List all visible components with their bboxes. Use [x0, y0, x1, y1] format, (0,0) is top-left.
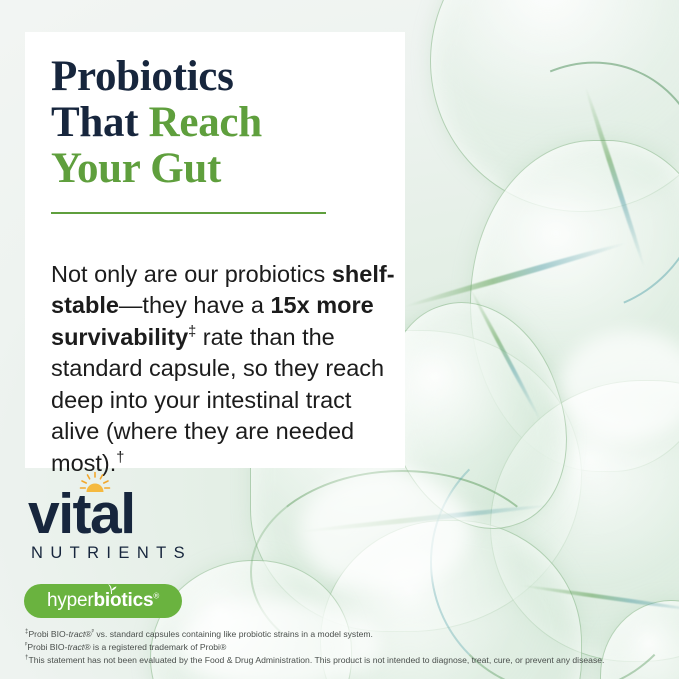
content-card: Probiotics That Reach Your Gut Not only …	[25, 32, 405, 468]
nutrients-subtitle: NUTRIENTS	[28, 544, 228, 563]
disclaimer-2-italic: tract	[67, 642, 84, 652]
headline: Probiotics That Reach Your Gut	[51, 54, 381, 192]
vital-nutrients-logo: vital NUTRIENTS	[28, 486, 228, 563]
headline-line2-green: Reach	[149, 99, 262, 146]
hyperbiotics-hyper: hyper	[47, 590, 94, 611]
disclaimer-line-2: ᵖProbi BIO-tract® is a registered tradem…	[25, 641, 675, 654]
hyperbiotics-biotics: biotics	[93, 590, 153, 611]
disclaimer-1-italic: tract	[69, 629, 86, 639]
disclaimer-line-3: †This statement has not been evaluated b…	[25, 654, 675, 667]
hyperbiotics-text: hyperbiotics®	[47, 590, 159, 612]
headline-line2-dark: That	[51, 99, 149, 146]
disclaimer-2b: ® is a registered trademark of Probi®	[84, 642, 226, 652]
headline-line1: Probiotics	[51, 53, 234, 100]
body-seg3: —they have a	[119, 292, 271, 318]
disclaimer-2a: Probi BIO-	[27, 642, 67, 652]
highlight-glare	[300, 470, 470, 590]
promotional-image: Probiotics That Reach Your Gut Not only …	[0, 0, 679, 679]
disclaimer-1c: vs. standard capsules containing like pr…	[94, 629, 373, 639]
body-seg1: Not only are our probiotics	[51, 261, 332, 287]
disclaimer-1a: Probi BIO-	[28, 629, 68, 639]
footnote-marker-dagger: †	[116, 450, 124, 466]
sunburst-icon	[78, 472, 112, 496]
vital-wordmark: vital	[28, 486, 228, 543]
headline-line3-green: Your Gut	[51, 145, 221, 192]
body-paragraph: Not only are our probiotics shelf-stable…	[51, 259, 396, 480]
registered-mark: ®	[153, 592, 159, 601]
disclaimer-3-text: This statement has not been evaluated by…	[28, 655, 604, 665]
divider-rule	[51, 212, 326, 214]
leaf-sprout-icon	[105, 582, 117, 594]
disclaimer-line-1: ‡Probi BIO-tract®ᵖ vs. standard capsules…	[25, 628, 675, 641]
hyperbiotics-badge: hyperbiotics®	[24, 584, 182, 618]
